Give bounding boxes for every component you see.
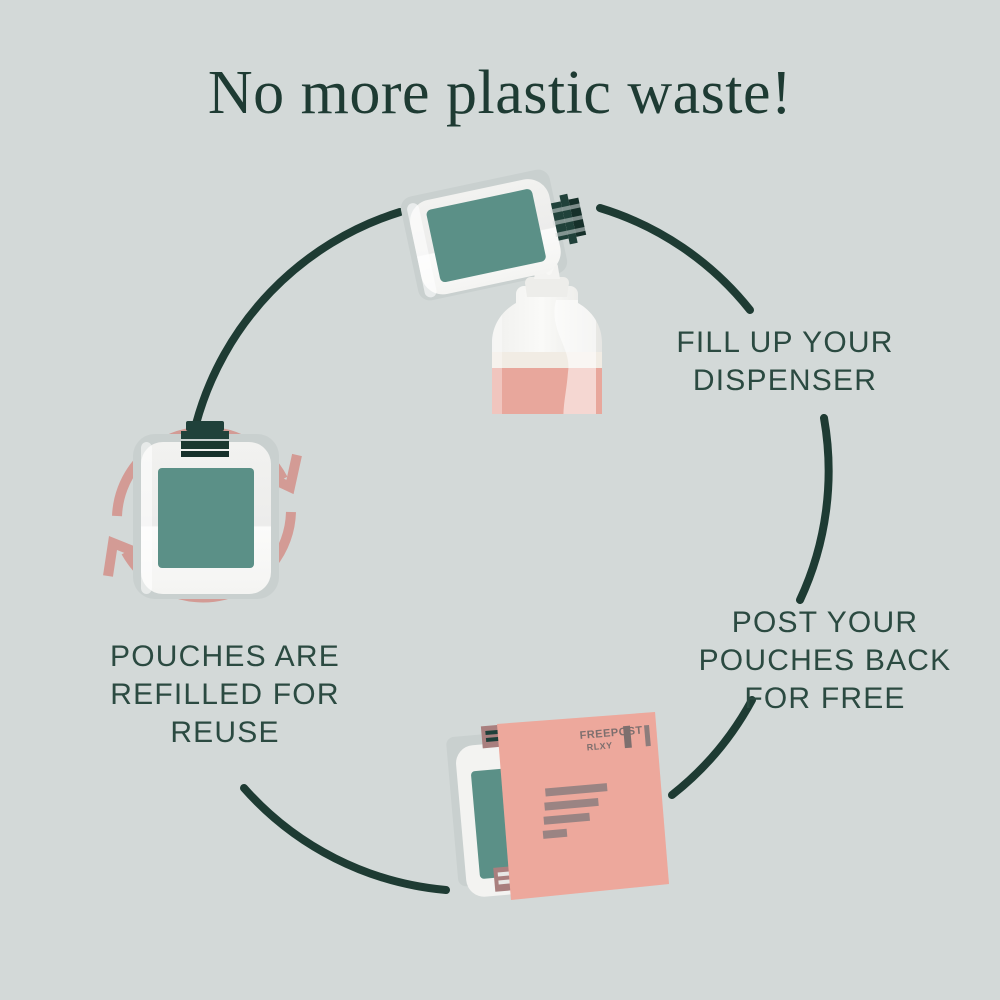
- bottle-neck: [525, 277, 569, 297]
- step-label-post-line-3: FOR FREE: [660, 680, 990, 718]
- illustration-fill-dispenser: [399, 167, 620, 438]
- step-label-refill-line-1: POUCHES ARE: [55, 638, 395, 676]
- step-label-refill-line-2: REFILLED FOR: [55, 676, 395, 714]
- illustration-freepost-envelope: FREEPOST RLXY: [446, 712, 677, 902]
- step-label-post-line-2: POUCHES BACK: [660, 642, 990, 680]
- cycle-arc-bottom-left: [244, 788, 446, 890]
- step-label-fill-line-1: FILL UP YOUR: [620, 324, 950, 362]
- step-label-post: POST YOUR POUCHES BACK FOR FREE: [660, 604, 990, 718]
- page-title: No more plastic waste!: [0, 56, 1000, 130]
- infographic-canvas: FREEPOST RLXY: [0, 0, 1000, 1000]
- envelope-front: FREEPOST RLXY: [497, 712, 677, 902]
- dispenser-bottle: [480, 262, 620, 438]
- step-label-fill-line-2: DISPENSER: [620, 362, 950, 400]
- illustration-refill-reuse: [108, 421, 297, 599]
- step-label-post-line-1: POST YOUR: [660, 604, 990, 642]
- cycle-arc-right: [800, 418, 829, 600]
- cycle-arc-top-left: [196, 212, 400, 424]
- step-label-refill: POUCHES ARE REFILLED FOR REUSE: [55, 638, 395, 752]
- pouch-refill: [141, 442, 271, 594]
- cycle-diagram: FREEPOST RLXY: [0, 0, 1000, 1000]
- step-label-refill-line-3: REUSE: [55, 714, 395, 752]
- cycle-arc-top-right: [600, 208, 750, 310]
- pouch-cap-refill: [181, 421, 229, 457]
- pouch-label-refill: [158, 468, 254, 568]
- step-label-fill: FILL UP YOUR DISPENSER: [620, 324, 950, 400]
